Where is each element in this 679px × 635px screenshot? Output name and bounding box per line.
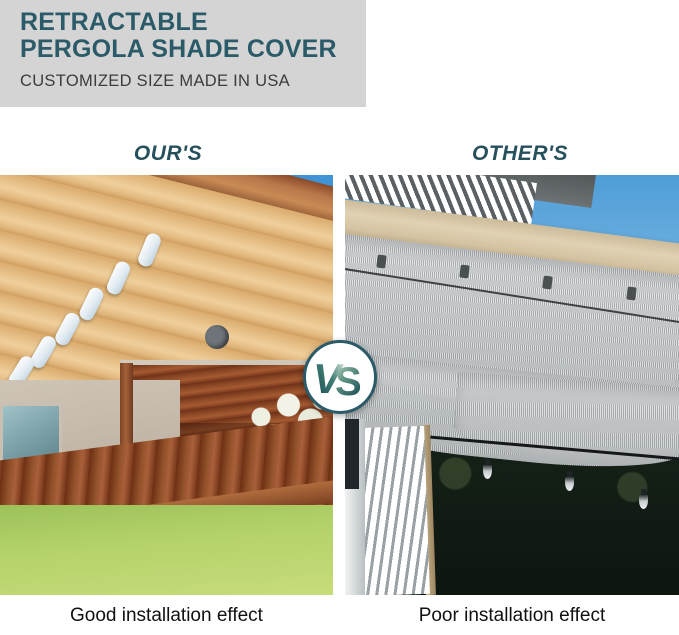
mesh-clip — [626, 287, 637, 301]
column-heading-others: OTHER'S — [430, 142, 610, 166]
photo-poor-installation — [345, 175, 679, 595]
page-title-line-2: PERGOLA SHADE COVER — [20, 37, 337, 62]
white-louvered-shutter — [354, 426, 430, 595]
caption-good-installation: Good installation effect — [0, 605, 333, 627]
satellite-dish — [205, 325, 229, 349]
mesh-clip — [542, 276, 553, 290]
caption-poor-installation: Poor installation effect — [345, 605, 679, 627]
lawn-near — [0, 505, 333, 595]
mesh-clip — [376, 255, 387, 269]
dark-window-pane — [345, 419, 359, 489]
column-heading-ours: OUR'S — [88, 142, 248, 166]
mesh-clip — [459, 265, 470, 279]
photo-good-installation — [0, 175, 333, 595]
header-banner: RETRACTABLE PERGOLA SHADE COVER CUSTOMIZ… — [0, 0, 366, 107]
svg-text:S: S — [335, 360, 362, 399]
versus-badge: V S — [303, 340, 377, 414]
page-title-line-1: RETRACTABLE — [20, 10, 208, 35]
header-subtitle: CUSTOMIZED SIZE MADE IN USA — [20, 72, 290, 91]
